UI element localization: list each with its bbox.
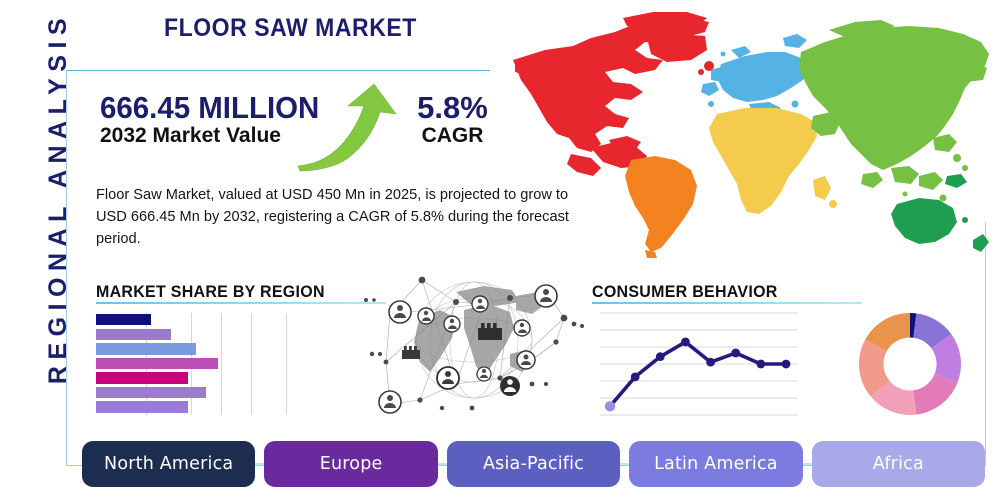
cagr-number: 5.8% bbox=[405, 92, 500, 123]
line-chart-marker bbox=[656, 352, 665, 361]
bar-chart-bar bbox=[96, 314, 151, 325]
cagr-label: CAGR bbox=[405, 123, 500, 149]
bar-chart-gridline bbox=[286, 313, 287, 415]
page-title: FLOOR SAW MARKET bbox=[164, 14, 417, 43]
bar-fill bbox=[96, 343, 196, 354]
market-share-bar-chart bbox=[96, 313, 286, 415]
consumer-behavior-donut-chart bbox=[858, 312, 962, 416]
line-chart-marker bbox=[681, 338, 690, 347]
bar-chart-gridline bbox=[221, 313, 222, 415]
up-right-growth-arrow-icon bbox=[292, 82, 402, 172]
market-value-number: 666.45 MILLION bbox=[100, 92, 319, 123]
bar-chart-bar bbox=[96, 329, 171, 340]
section-heading-consumer-behavior: CONSUMER BEHAVIOR bbox=[592, 282, 778, 302]
bar-chart-bar bbox=[96, 387, 206, 398]
line-chart-svg bbox=[600, 310, 798, 418]
bar-fill bbox=[96, 358, 218, 369]
region-pill-asia-pacific[interactable]: Asia-Pacific bbox=[447, 441, 620, 487]
line-chart-marker bbox=[782, 360, 791, 369]
section-rule-market-share bbox=[96, 302, 386, 304]
section-heading-market-share: MARKET SHARE BY REGION bbox=[96, 282, 325, 302]
global-network-globe-icon bbox=[360, 266, 588, 422]
bar-fill bbox=[96, 401, 188, 412]
bar-chart-bar bbox=[96, 401, 188, 412]
region-pill-africa[interactable]: Africa bbox=[812, 441, 985, 487]
bar-chart-bar bbox=[96, 372, 188, 383]
section-rule-consumer-behavior bbox=[592, 302, 862, 304]
line-chart-marker bbox=[756, 360, 765, 369]
line-chart-marker bbox=[731, 349, 740, 358]
line-chart-marker bbox=[631, 372, 640, 381]
infographic-root: REGIONAL ANALYSIS FLOOR SAW MARKET bbox=[0, 0, 1000, 500]
line-chart-marker bbox=[706, 358, 715, 367]
region-pill-europe[interactable]: Europe bbox=[264, 441, 437, 487]
bar-chart-bar bbox=[96, 343, 196, 354]
consumer-behavior-line-chart bbox=[600, 310, 798, 418]
bar-fill bbox=[96, 387, 206, 398]
region-pill-row: North AmericaEuropeAsia-PacificLatin Ame… bbox=[82, 441, 985, 487]
bar-fill bbox=[96, 314, 151, 325]
line-chart-marker bbox=[605, 401, 615, 411]
bar-chart-bar bbox=[96, 358, 218, 369]
region-pill-latin-america[interactable]: Latin America bbox=[629, 441, 802, 487]
description-text: Floor Saw Market, valued at USD 450 Mn i… bbox=[96, 184, 590, 251]
side-label-regional-analysis: REGIONAL ANALYSIS bbox=[38, 18, 78, 378]
region-pill-north-america[interactable]: North America bbox=[82, 441, 255, 487]
bar-chart-gridline bbox=[251, 313, 252, 415]
bar-fill bbox=[96, 372, 188, 383]
bar-fill bbox=[96, 329, 171, 340]
donut-chart-svg bbox=[858, 312, 962, 416]
cagr-stat: 5.8% CAGR bbox=[405, 92, 500, 149]
